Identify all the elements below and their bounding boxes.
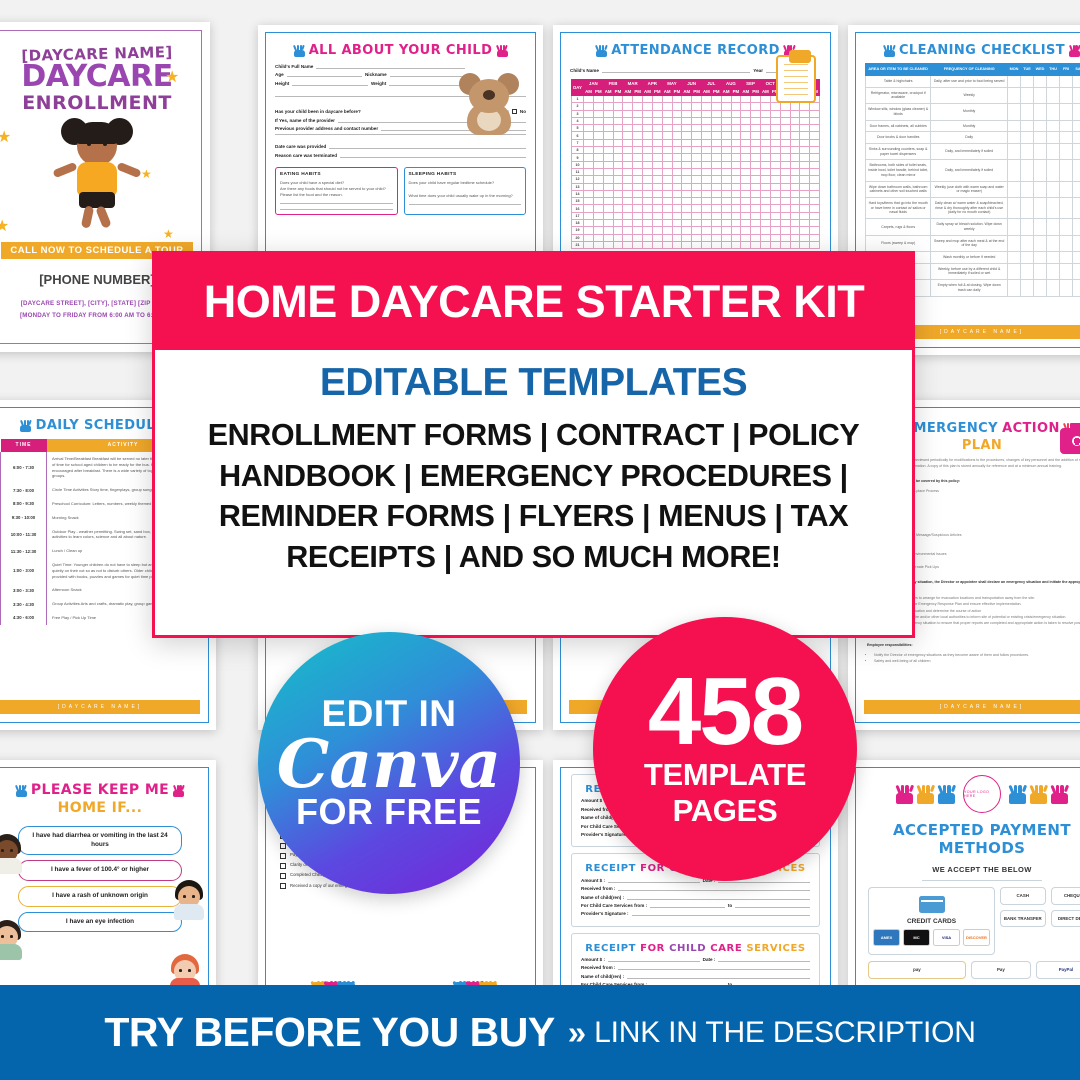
attendance-cell[interactable] [623, 198, 633, 205]
cleaning-check-cell[interactable] [1008, 235, 1021, 251]
attendance-cell[interactable] [770, 161, 780, 168]
attendance-cell[interactable] [584, 205, 594, 212]
cleaning-check-cell[interactable] [1021, 160, 1034, 181]
attendance-cell[interactable] [603, 168, 613, 175]
attendance-cell[interactable] [603, 234, 613, 241]
attendance-cell[interactable] [584, 139, 594, 146]
attendance-cell[interactable] [751, 176, 761, 183]
attendance-cell[interactable] [623, 227, 633, 234]
attendance-cell[interactable] [633, 205, 643, 212]
attendance-cell[interactable] [672, 220, 682, 227]
attendance-cell[interactable] [810, 190, 820, 197]
attendance-cell[interactable] [642, 103, 652, 110]
attendance-cell[interactable] [652, 220, 662, 227]
cleaning-check-cell[interactable] [1034, 280, 1047, 296]
attendance-cell[interactable] [701, 227, 711, 234]
input-line[interactable] [329, 148, 526, 149]
cleaning-check-cell[interactable] [1047, 181, 1060, 197]
attendance-cell[interactable] [711, 110, 721, 117]
attendance-cell[interactable] [800, 176, 810, 183]
attendance-cell[interactable] [692, 154, 702, 161]
attendance-cell[interactable] [584, 103, 594, 110]
attendance-cell[interactable] [652, 125, 662, 132]
attendance-cell[interactable] [731, 110, 741, 117]
attendance-cell[interactable] [701, 241, 711, 248]
attendance-cell[interactable] [790, 241, 800, 248]
attendance-cell[interactable] [682, 168, 692, 175]
cleaning-check-cell[interactable] [1008, 263, 1021, 279]
attendance-cell[interactable] [593, 234, 603, 241]
attendance-cell[interactable] [800, 103, 810, 110]
attendance-cell[interactable] [623, 110, 633, 117]
attendance-cell[interactable] [593, 198, 603, 205]
attendance-cell[interactable] [800, 234, 810, 241]
attendance-cell[interactable] [584, 234, 594, 241]
attendance-cell[interactable] [633, 110, 643, 117]
attendance-cell[interactable] [672, 234, 682, 241]
attendance-cell[interactable] [662, 103, 672, 110]
attendance-cell[interactable] [633, 96, 643, 103]
attendance-cell[interactable] [613, 234, 623, 241]
attendance-cell[interactable] [642, 139, 652, 146]
attendance-cell[interactable] [603, 161, 613, 168]
attendance-cell[interactable] [682, 198, 692, 205]
attendance-cell[interactable] [613, 154, 623, 161]
attendance-cell[interactable] [682, 205, 692, 212]
attendance-cell[interactable] [711, 125, 721, 132]
attendance-cell[interactable] [741, 161, 751, 168]
input-line[interactable] [280, 203, 393, 204]
attendance-cell[interactable] [603, 96, 613, 103]
attendance-cell[interactable] [652, 205, 662, 212]
attendance-cell[interactable] [790, 220, 800, 227]
attendance-cell[interactable] [584, 168, 594, 175]
attendance-cell[interactable] [790, 183, 800, 190]
attendance-cell[interactable] [593, 125, 603, 132]
cleaning-check-cell[interactable] [1073, 235, 1080, 251]
attendance-cell[interactable] [770, 234, 780, 241]
attendance-cell[interactable] [633, 147, 643, 154]
attendance-cell[interactable] [760, 198, 770, 205]
attendance-cell[interactable] [682, 132, 692, 139]
attendance-cell[interactable] [770, 103, 780, 110]
attendance-cell[interactable] [652, 117, 662, 124]
attendance-cell[interactable] [623, 168, 633, 175]
attendance-cell[interactable] [770, 110, 780, 117]
attendance-cell[interactable] [780, 110, 790, 117]
attendance-cell[interactable] [672, 103, 682, 110]
cleaning-check-cell[interactable] [1060, 87, 1073, 103]
cleaning-check-cell[interactable] [1047, 143, 1060, 159]
attendance-cell[interactable] [613, 168, 623, 175]
attendance-cell[interactable] [603, 205, 613, 212]
attendance-cell[interactable] [701, 154, 711, 161]
attendance-cell[interactable] [682, 103, 692, 110]
cleaning-check-cell[interactable] [1021, 132, 1034, 144]
attendance-cell[interactable] [760, 220, 770, 227]
cleaning-check-cell[interactable] [1047, 75, 1060, 87]
attendance-cell[interactable] [623, 205, 633, 212]
attendance-cell[interactable] [731, 205, 741, 212]
attendance-cell[interactable] [613, 183, 623, 190]
attendance-cell[interactable] [790, 117, 800, 124]
attendance-cell[interactable] [593, 161, 603, 168]
attendance-cell[interactable] [770, 220, 780, 227]
attendance-cell[interactable] [633, 190, 643, 197]
attendance-cell[interactable] [780, 161, 790, 168]
attendance-cell[interactable] [751, 139, 761, 146]
attendance-cell[interactable] [584, 161, 594, 168]
attendance-cell[interactable] [701, 147, 711, 154]
attendance-cell[interactable] [770, 132, 780, 139]
attendance-cell[interactable] [751, 227, 761, 234]
attendance-cell[interactable] [633, 212, 643, 219]
attendance-cell[interactable] [633, 139, 643, 146]
attendance-cell[interactable] [731, 125, 741, 132]
attendance-cell[interactable] [692, 168, 702, 175]
attendance-cell[interactable] [711, 198, 721, 205]
cleaning-check-cell[interactable] [1021, 120, 1034, 132]
attendance-cell[interactable] [711, 161, 721, 168]
cleaning-check-cell[interactable] [1034, 75, 1047, 87]
attendance-cell[interactable] [701, 212, 711, 219]
attendance-cell[interactable] [672, 198, 682, 205]
attendance-cell[interactable] [751, 117, 761, 124]
attendance-cell[interactable] [741, 139, 751, 146]
attendance-cell[interactable] [633, 241, 643, 248]
attendance-cell[interactable] [741, 117, 751, 124]
attendance-cell[interactable] [790, 125, 800, 132]
attendance-cell[interactable] [741, 241, 751, 248]
attendance-cell[interactable] [692, 205, 702, 212]
attendance-cell[interactable] [662, 117, 672, 124]
attendance-cell[interactable] [682, 117, 692, 124]
cleaning-check-cell[interactable] [1008, 75, 1021, 87]
attendance-cell[interactable] [662, 212, 672, 219]
attendance-cell[interactable] [741, 176, 751, 183]
attendance-cell[interactable] [711, 147, 721, 154]
attendance-cell[interactable] [633, 176, 643, 183]
attendance-cell[interactable] [731, 227, 741, 234]
cleaning-check-cell[interactable] [1008, 197, 1021, 218]
cleaning-check-cell[interactable] [1021, 75, 1034, 87]
attendance-cell[interactable] [662, 132, 672, 139]
attendance-cell[interactable] [751, 183, 761, 190]
attendance-cell[interactable] [682, 110, 692, 117]
attendance-cell[interactable] [623, 139, 633, 146]
attendance-cell[interactable] [642, 220, 652, 227]
attendance-cell[interactable] [672, 183, 682, 190]
receipt-input-line[interactable] [718, 882, 810, 883]
attendance-cell[interactable] [790, 234, 800, 241]
attendance-cell[interactable] [780, 154, 790, 161]
cleaning-check-cell[interactable] [1073, 120, 1080, 132]
attendance-cell[interactable] [603, 154, 613, 161]
attendance-cell[interactable] [662, 176, 672, 183]
attendance-cell[interactable] [790, 168, 800, 175]
attendance-cell[interactable] [623, 125, 633, 132]
attendance-cell[interactable] [731, 220, 741, 227]
cleaning-check-cell[interactable] [1060, 197, 1073, 218]
attendance-cell[interactable] [613, 176, 623, 183]
attendance-cell[interactable] [603, 198, 613, 205]
child-name-input[interactable] [602, 72, 750, 73]
attendance-cell[interactable] [751, 110, 761, 117]
cleaning-check-cell[interactable] [1008, 87, 1021, 103]
cleaning-check-cell[interactable] [1034, 197, 1047, 218]
attendance-cell[interactable] [662, 96, 672, 103]
attendance-cell[interactable] [662, 241, 672, 248]
attendance-cell[interactable] [741, 227, 751, 234]
attendance-cell[interactable] [662, 168, 672, 175]
cleaning-check-cell[interactable] [1060, 104, 1073, 120]
attendance-cell[interactable] [751, 205, 761, 212]
cleaning-check-cell[interactable] [1047, 263, 1060, 279]
attendance-cell[interactable] [662, 205, 672, 212]
cleaning-check-cell[interactable] [1060, 75, 1073, 87]
attendance-cell[interactable] [751, 132, 761, 139]
cleaning-check-cell[interactable] [1034, 263, 1047, 279]
cleaning-check-cell[interactable] [1073, 75, 1080, 87]
attendance-cell[interactable] [741, 103, 751, 110]
attendance-cell[interactable] [672, 168, 682, 175]
attendance-cell[interactable] [701, 96, 711, 103]
attendance-cell[interactable] [721, 198, 731, 205]
attendance-cell[interactable] [662, 147, 672, 154]
attendance-cell[interactable] [593, 117, 603, 124]
attendance-cell[interactable] [711, 176, 721, 183]
attendance-cell[interactable] [760, 103, 770, 110]
attendance-cell[interactable] [731, 154, 741, 161]
attendance-cell[interactable] [760, 125, 770, 132]
cleaning-check-cell[interactable] [1047, 235, 1060, 251]
attendance-cell[interactable] [731, 168, 741, 175]
attendance-cell[interactable] [810, 234, 820, 241]
attendance-cell[interactable] [711, 154, 721, 161]
attendance-cell[interactable] [672, 205, 682, 212]
attendance-cell[interactable] [780, 212, 790, 219]
attendance-cell[interactable] [642, 168, 652, 175]
attendance-cell[interactable] [760, 241, 770, 248]
attendance-cell[interactable] [642, 198, 652, 205]
attendance-cell[interactable] [603, 103, 613, 110]
attendance-cell[interactable] [741, 198, 751, 205]
input-line[interactable] [409, 204, 522, 205]
attendance-cell[interactable] [731, 96, 741, 103]
attendance-cell[interactable] [780, 234, 790, 241]
attendance-cell[interactable] [770, 168, 780, 175]
attendance-cell[interactable] [642, 227, 652, 234]
cleaning-check-cell[interactable] [1060, 280, 1073, 296]
attendance-cell[interactable] [652, 234, 662, 241]
attendance-cell[interactable] [593, 241, 603, 248]
cleaning-check-cell[interactable] [1034, 143, 1047, 159]
attendance-cell[interactable] [711, 117, 721, 124]
attendance-cell[interactable] [672, 117, 682, 124]
cleaning-check-cell[interactable] [1021, 280, 1034, 296]
attendance-cell[interactable] [623, 234, 633, 241]
attendance-cell[interactable] [672, 241, 682, 248]
attendance-cell[interactable] [701, 103, 711, 110]
attendance-cell[interactable] [770, 183, 780, 190]
attendance-cell[interactable] [711, 241, 721, 248]
cleaning-check-cell[interactable] [1008, 160, 1021, 181]
attendance-cell[interactable] [741, 125, 751, 132]
input-line[interactable] [389, 85, 465, 86]
attendance-cell[interactable] [711, 220, 721, 227]
attendance-cell[interactable] [662, 198, 672, 205]
attendance-cell[interactable] [652, 227, 662, 234]
cleaning-check-cell[interactable] [1060, 181, 1073, 197]
cleaning-check-cell[interactable] [1008, 104, 1021, 120]
attendance-cell[interactable] [672, 212, 682, 219]
attendance-cell[interactable] [810, 183, 820, 190]
attendance-cell[interactable] [662, 220, 672, 227]
attendance-cell[interactable] [741, 212, 751, 219]
attendance-cell[interactable] [751, 168, 761, 175]
attendance-cell[interactable] [810, 147, 820, 154]
attendance-cell[interactable] [593, 110, 603, 117]
attendance-cell[interactable] [731, 190, 741, 197]
cleaning-check-cell[interactable] [1008, 132, 1021, 144]
attendance-cell[interactable] [682, 154, 692, 161]
attendance-cell[interactable] [633, 183, 643, 190]
attendance-cell[interactable] [652, 176, 662, 183]
attendance-cell[interactable] [692, 241, 702, 248]
attendance-cell[interactable] [584, 227, 594, 234]
attendance-cell[interactable] [662, 110, 672, 117]
attendance-cell[interactable] [642, 117, 652, 124]
cleaning-check-cell[interactable] [1047, 132, 1060, 144]
attendance-cell[interactable] [672, 227, 682, 234]
attendance-cell[interactable] [692, 147, 702, 154]
attendance-cell[interactable] [593, 147, 603, 154]
checkbox[interactable] [280, 853, 286, 859]
attendance-cell[interactable] [810, 154, 820, 161]
attendance-cell[interactable] [603, 183, 613, 190]
attendance-cell[interactable] [731, 198, 741, 205]
cleaning-check-cell[interactable] [1008, 252, 1021, 264]
attendance-cell[interactable] [800, 198, 810, 205]
attendance-cell[interactable] [810, 132, 820, 139]
attendance-cell[interactable] [711, 103, 721, 110]
attendance-cell[interactable] [810, 205, 820, 212]
attendance-cell[interactable] [701, 198, 711, 205]
attendance-cell[interactable] [760, 168, 770, 175]
attendance-cell[interactable] [760, 212, 770, 219]
attendance-cell[interactable] [613, 212, 623, 219]
attendance-cell[interactable] [751, 198, 761, 205]
attendance-cell[interactable] [751, 220, 761, 227]
attendance-cell[interactable] [810, 241, 820, 248]
attendance-cell[interactable] [721, 234, 731, 241]
attendance-cell[interactable] [780, 176, 790, 183]
attendance-cell[interactable] [613, 220, 623, 227]
attendance-cell[interactable] [760, 183, 770, 190]
attendance-cell[interactable] [770, 205, 780, 212]
input-line[interactable] [340, 157, 526, 158]
attendance-cell[interactable] [623, 96, 633, 103]
attendance-cell[interactable] [780, 132, 790, 139]
attendance-cell[interactable] [623, 241, 633, 248]
attendance-cell[interactable] [721, 117, 731, 124]
attendance-cell[interactable] [721, 103, 731, 110]
attendance-cell[interactable] [800, 205, 810, 212]
attendance-cell[interactable] [731, 183, 741, 190]
attendance-cell[interactable] [613, 96, 623, 103]
attendance-cell[interactable] [770, 241, 780, 248]
attendance-cell[interactable] [721, 241, 731, 248]
attendance-cell[interactable] [770, 227, 780, 234]
attendance-cell[interactable] [593, 96, 603, 103]
attendance-cell[interactable] [711, 227, 721, 234]
attendance-cell[interactable] [701, 168, 711, 175]
attendance-cell[interactable] [662, 190, 672, 197]
attendance-cell[interactable] [692, 132, 702, 139]
attendance-cell[interactable] [662, 161, 672, 168]
attendance-cell[interactable] [613, 227, 623, 234]
attendance-cell[interactable] [682, 161, 692, 168]
cleaning-check-cell[interactable] [1034, 235, 1047, 251]
attendance-cell[interactable] [760, 117, 770, 124]
cleaning-check-cell[interactable] [1021, 235, 1034, 251]
attendance-cell[interactable] [692, 220, 702, 227]
attendance-cell[interactable] [623, 190, 633, 197]
attendance-cell[interactable] [623, 117, 633, 124]
cleaning-check-cell[interactable] [1034, 252, 1047, 264]
attendance-cell[interactable] [741, 220, 751, 227]
attendance-cell[interactable] [701, 161, 711, 168]
attendance-cell[interactable] [633, 132, 643, 139]
attendance-cell[interactable] [731, 103, 741, 110]
attendance-cell[interactable] [731, 147, 741, 154]
attendance-cell[interactable] [603, 241, 613, 248]
cleaning-check-cell[interactable] [1073, 87, 1080, 103]
attendance-cell[interactable] [741, 132, 751, 139]
attendance-cell[interactable] [652, 168, 662, 175]
cleaning-check-cell[interactable] [1021, 219, 1034, 235]
attendance-cell[interactable] [701, 234, 711, 241]
attendance-cell[interactable] [711, 183, 721, 190]
attendance-cell[interactable] [790, 205, 800, 212]
cleaning-check-cell[interactable] [1073, 252, 1080, 264]
attendance-cell[interactable] [741, 96, 751, 103]
attendance-cell[interactable] [623, 154, 633, 161]
attendance-cell[interactable] [692, 227, 702, 234]
attendance-cell[interactable] [682, 212, 692, 219]
attendance-cell[interactable] [810, 220, 820, 227]
cleaning-check-cell[interactable] [1034, 181, 1047, 197]
attendance-cell[interactable] [603, 132, 613, 139]
attendance-cell[interactable] [780, 183, 790, 190]
attendance-cell[interactable] [741, 205, 751, 212]
attendance-cell[interactable] [584, 132, 594, 139]
attendance-cell[interactable] [613, 103, 623, 110]
receipt-input-line[interactable] [735, 907, 810, 908]
attendance-cell[interactable] [662, 139, 672, 146]
attendance-cell[interactable] [800, 241, 810, 248]
cleaning-check-cell[interactable] [1034, 120, 1047, 132]
attendance-cell[interactable] [800, 132, 810, 139]
attendance-cell[interactable] [701, 205, 711, 212]
attendance-cell[interactable] [721, 220, 731, 227]
attendance-cell[interactable] [623, 147, 633, 154]
attendance-cell[interactable] [652, 212, 662, 219]
attendance-cell[interactable] [770, 147, 780, 154]
attendance-cell[interactable] [780, 117, 790, 124]
receipt-input-line[interactable] [718, 961, 810, 962]
attendance-cell[interactable] [613, 161, 623, 168]
